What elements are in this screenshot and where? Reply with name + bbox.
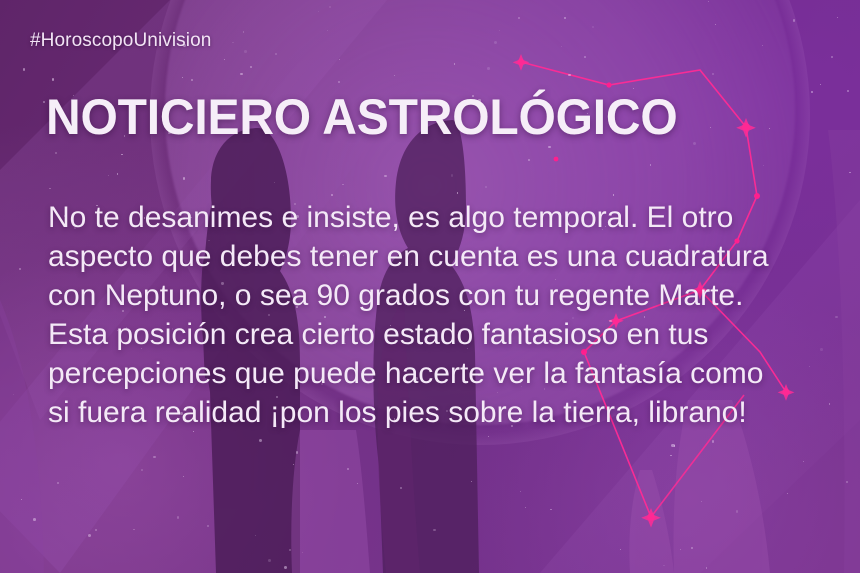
star-dot [811,91,813,93]
body-line: No te desanimes e insiste, es algo tempo… [48,198,848,237]
star-dot [820,84,821,85]
body-line: Esta posición crea cierto estado fantasi… [48,315,848,354]
star-dot [849,172,850,173]
star-dot [400,487,402,489]
hashtag-label: #HoroscopoUnivision [30,30,211,52]
page-title: NOTICIERO ASTROLÓGICO [46,92,678,142]
body-line: percepciones que puede hacerte ver la fa… [48,354,848,393]
star-dot [23,68,26,71]
star-dot [117,173,119,175]
star-dot [837,17,838,18]
star-dot [831,56,833,58]
star-dot [108,175,109,176]
star-dot [49,188,50,189]
horoscope-body-text: No te desanimes e insiste, es algo tempo… [48,198,848,432]
body-line: con Neptuno, o sea 90 grados con tu rege… [48,276,848,315]
star-dot [43,101,45,103]
star-dot [52,78,55,81]
horoscope-card: #HoroscopoUnivision NOTICIERO ASTROLÓGIC… [0,0,860,573]
star-dot [847,90,849,92]
body-line: aspecto que debes tener en cuenta es una… [48,237,848,276]
star-dot [55,152,57,154]
star-dot [121,154,123,156]
body-line: si fuera realidad ¡pon los pies sobre la… [48,393,848,432]
